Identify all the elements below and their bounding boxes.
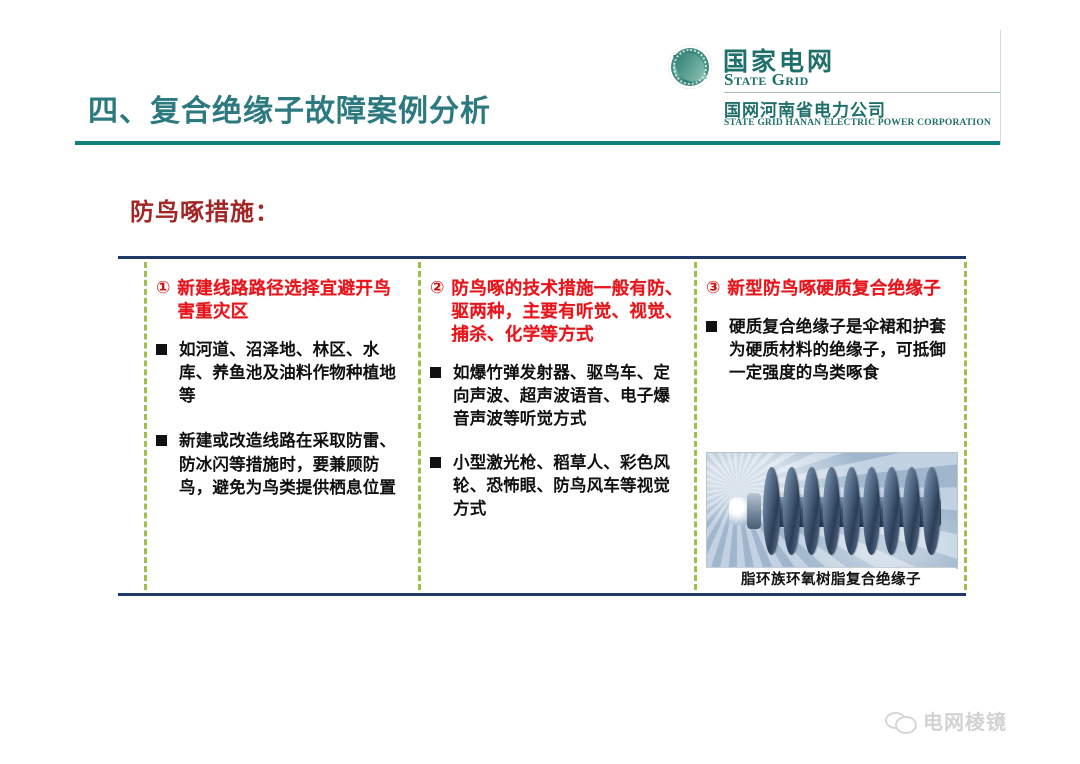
column-3-number: ③: [706, 278, 720, 299]
measure-column-2: ② 防鸟啄的技术措施一般有防、驱两种，主要有听觉、视觉、捕杀、化学等方式 如爆竹…: [430, 278, 686, 540]
square-bullet-icon: [156, 435, 167, 446]
state-grid-logo-mark-icon: [668, 45, 712, 89]
insulator-shed: [923, 467, 940, 555]
square-bullet-icon: [430, 367, 441, 378]
column-divider-2: [418, 262, 421, 590]
column-1-heading: 新建线路路径选择宜避开鸟害重灾区: [177, 278, 406, 324]
insulator-shed: [763, 467, 780, 555]
insulator-shed: [903, 467, 920, 555]
list-item-text: 新建或改造线路在采取防雷、防冰闪等措施时，要兼顾防鸟，避免为鸟类提供栖息位置: [179, 429, 406, 498]
insulator-photo-block: 脂环族环氧树脂复合绝缘子: [706, 452, 956, 592]
panel-bottom-rule: [118, 593, 966, 596]
list-item: 如河道、沼泽地、林区、水库、养鱼池及油料作物种植地等: [156, 338, 406, 407]
square-bullet-icon: [430, 457, 441, 468]
column-3-heading-row: ③ 新型防鸟啄硬质复合绝缘子: [706, 278, 962, 301]
column-2-heading: 防鸟啄的技术措施一般有防、驱两种，主要有听觉、视觉、捕杀、化学等方式: [451, 278, 686, 347]
logo-divider: [724, 92, 1000, 93]
slide-right-edge: [1000, 30, 1001, 145]
list-item: 小型激光枪、稻草人、彩色风轮、恐怖眼、防鸟风车等视觉方式: [430, 451, 686, 520]
list-item: 新建或改造线路在采取防雷、防冰闪等措施时，要兼顾防鸟，避免为鸟类提供栖息位置: [156, 429, 406, 498]
insulator-shed: [863, 467, 880, 555]
insulator-illustration: [729, 459, 945, 563]
column-2-bullets: 如爆竹弹发射器、驱鸟车、定向声波、超声波语音、电子爆音声波等听觉方式 小型激光枪…: [430, 361, 686, 520]
column-3-heading: 新型防鸟啄硬质复合绝缘子: [727, 278, 941, 301]
panel-top-rule: [118, 256, 966, 259]
column-divider-3: [694, 262, 697, 590]
insulator-end-fitting: [729, 493, 767, 529]
column-1-number: ①: [156, 278, 170, 299]
logo-en-primary: State Grid: [724, 70, 809, 90]
list-item-text: 硬质复合绝缘子是伞裙和护套为硬质材料的绝缘子，可抵御一定强度的鸟类啄食: [729, 315, 962, 384]
insulator-shed: [803, 467, 820, 555]
content-panel: ① 新建线路路径选择宜避开鸟害重灾区 如河道、沼泽地、林区、水库、养鱼池及油料作…: [118, 256, 966, 596]
wechat-bubbles-icon: [885, 710, 915, 732]
watermark: 电网棱镜: [885, 706, 1007, 735]
list-item-text: 如爆竹弹发射器、驱鸟车、定向声波、超声波语音、电子爆音声波等听觉方式: [453, 361, 686, 430]
insulator-shed: [783, 467, 800, 555]
column-2-number: ②: [430, 278, 444, 299]
insulator-shed: [883, 467, 900, 555]
measure-column-1: ① 新建线路路径选择宜避开鸟害重灾区 如河道、沼泽地、林区、水库、养鱼池及油料作…: [156, 278, 406, 521]
watermark-text: 电网棱镜: [923, 706, 1007, 735]
square-bullet-icon: [706, 321, 717, 332]
column-divider-4: [964, 262, 967, 590]
photo-caption: 脂环族环氧树脂复合绝缘子: [706, 568, 956, 589]
list-item: 硬质复合绝缘子是伞裙和护套为硬质材料的绝缘子，可抵御一定强度的鸟类啄食: [706, 315, 962, 384]
column-1-bullets: 如河道、沼泽地、林区、水库、养鱼池及油料作物种植地等 新建或改造线路在采取防雷、…: [156, 338, 406, 499]
list-item-text: 小型激光枪、稻草人、彩色风轮、恐怖眼、防鸟风车等视觉方式: [453, 451, 686, 520]
list-item: 如爆竹弹发射器、驱鸟车、定向声波、超声波语音、电子爆音声波等听觉方式: [430, 361, 686, 430]
column-3-bullets: 硬质复合绝缘子是伞裙和护套为硬质材料的绝缘子，可抵御一定强度的鸟类啄食: [706, 315, 962, 384]
insulator-photo: [706, 452, 958, 569]
measure-column-3: ③ 新型防鸟啄硬质复合绝缘子 硬质复合绝缘子是伞裙和护套为硬质材料的绝缘子，可抵…: [706, 278, 962, 400]
column-divider-1: [144, 262, 147, 590]
slide-canvas: 四、复合绝缘子故障案例分析 国家电网 State Grid 国网河南省电力公司 …: [0, 0, 1080, 764]
square-bullet-icon: [156, 344, 167, 355]
column-1-heading-row: ① 新建线路路径选择宜避开鸟害重灾区: [156, 278, 406, 324]
insulator-shed: [843, 467, 860, 555]
logo-en-secondary: STATE GRID HANAN ELECTRIC POWER CORPORAT…: [724, 118, 991, 128]
chat-bubble-front: [895, 716, 917, 734]
column-2-heading-row: ② 防鸟啄的技术措施一般有防、驱两种，主要有听觉、视觉、捕杀、化学等方式: [430, 278, 686, 347]
state-grid-logo: 国家电网 State Grid 国网河南省电力公司 STATE GRID HAN…: [668, 42, 1000, 134]
page-title: 四、复合绝缘子故障案例分析: [88, 86, 491, 130]
list-item-text: 如河道、沼泽地、林区、水库、养鱼池及油料作物种植地等: [179, 338, 406, 407]
insulator-shed: [823, 467, 840, 555]
section-subtitle: 防鸟啄措施：: [130, 192, 280, 227]
header-rule: [75, 141, 1000, 145]
